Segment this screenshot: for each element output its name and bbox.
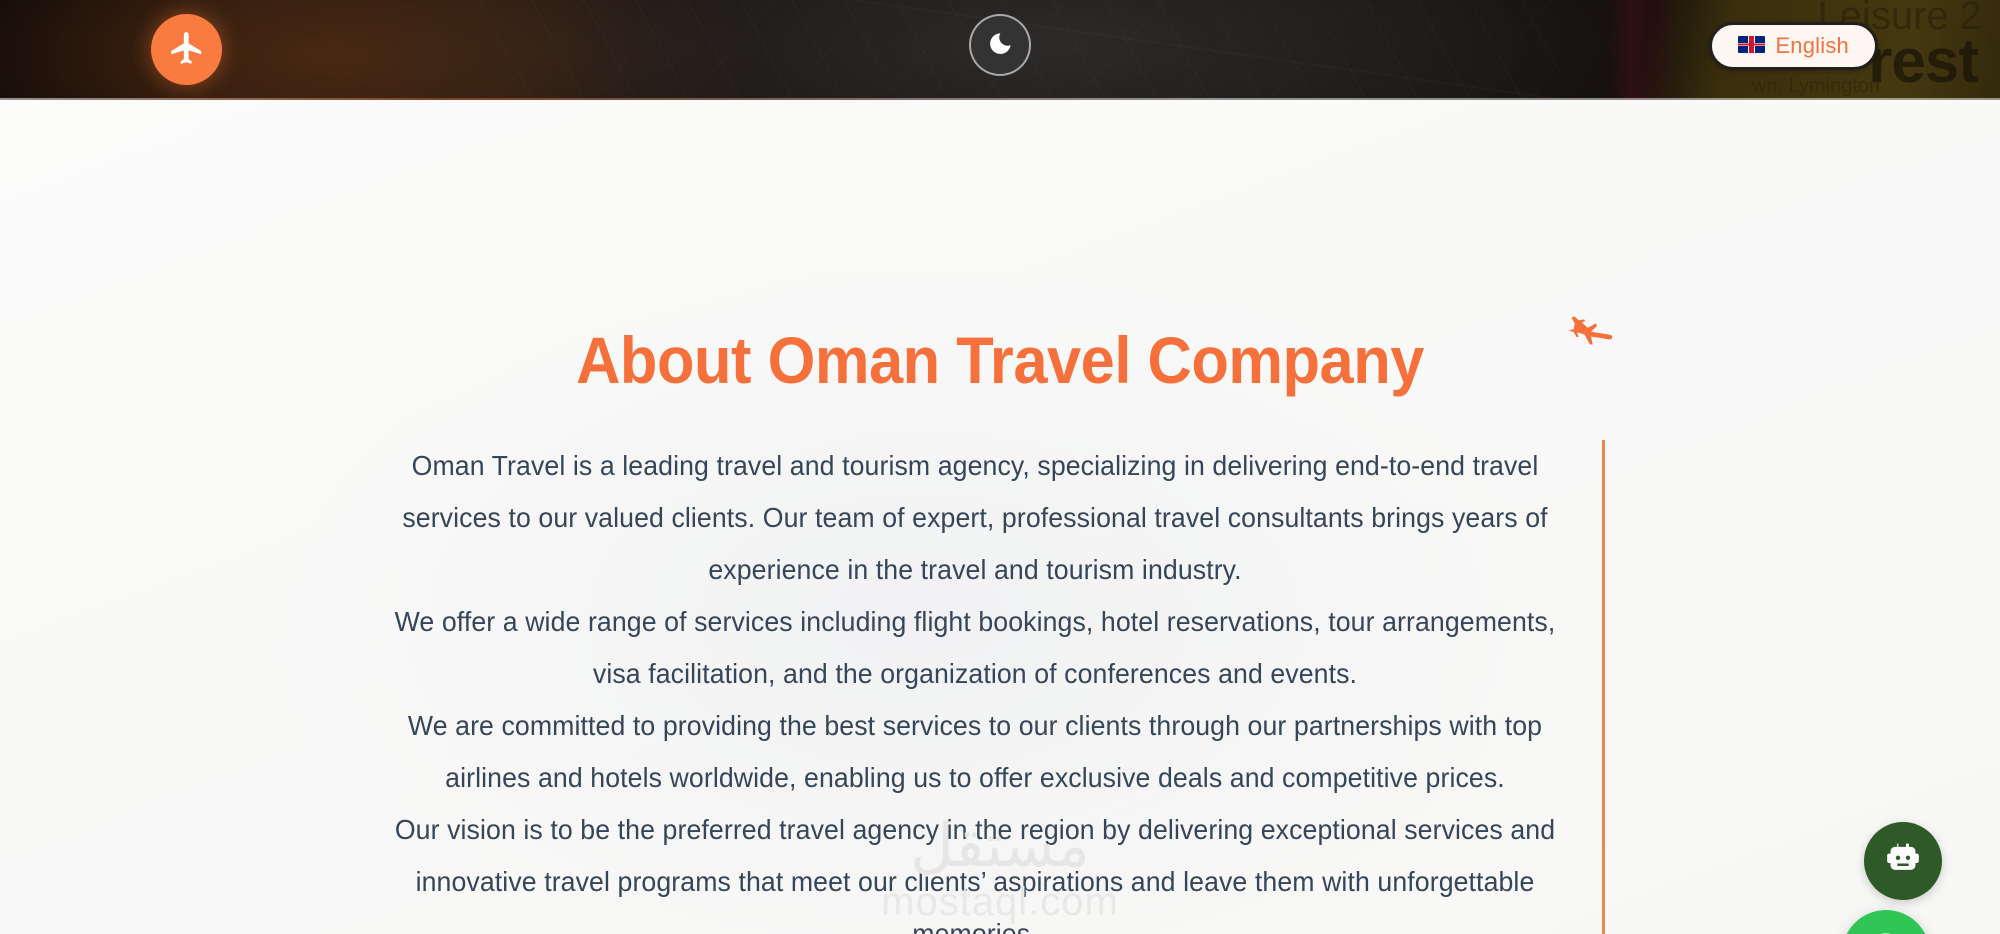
whatsapp-icon xyxy=(1862,929,1910,934)
dark-mode-toggle[interactable] xyxy=(969,14,1031,76)
about-paragraph: Our vision is to be the preferred travel… xyxy=(388,804,1562,934)
robot-icon xyxy=(1883,840,1923,883)
home-plane-button[interactable] xyxy=(151,14,222,85)
airplane-icon xyxy=(168,29,206,70)
about-section: About Oman Travel Company Oman Travel is… xyxy=(0,100,2000,934)
whatsapp-button[interactable] xyxy=(1842,910,1930,934)
language-switcher-button[interactable]: English xyxy=(1709,22,1878,70)
page-title: About Oman Travel Company xyxy=(70,322,1930,398)
hero-banner: Leisure 2 rest wn, Lymington English xyxy=(0,0,2000,100)
about-paragraph: We are committed to providing the best s… xyxy=(388,700,1562,804)
moon-icon xyxy=(987,31,1013,60)
language-label: English xyxy=(1775,33,1849,59)
uk-flag-icon xyxy=(1738,36,1765,57)
about-paragraph: Oman Travel is a leading travel and tour… xyxy=(388,440,1562,596)
about-paragraph: We offer a wide range of services includ… xyxy=(388,596,1562,700)
about-text-block: Oman Travel is a leading travel and tour… xyxy=(370,440,1605,934)
chatbot-button[interactable] xyxy=(1864,822,1942,900)
